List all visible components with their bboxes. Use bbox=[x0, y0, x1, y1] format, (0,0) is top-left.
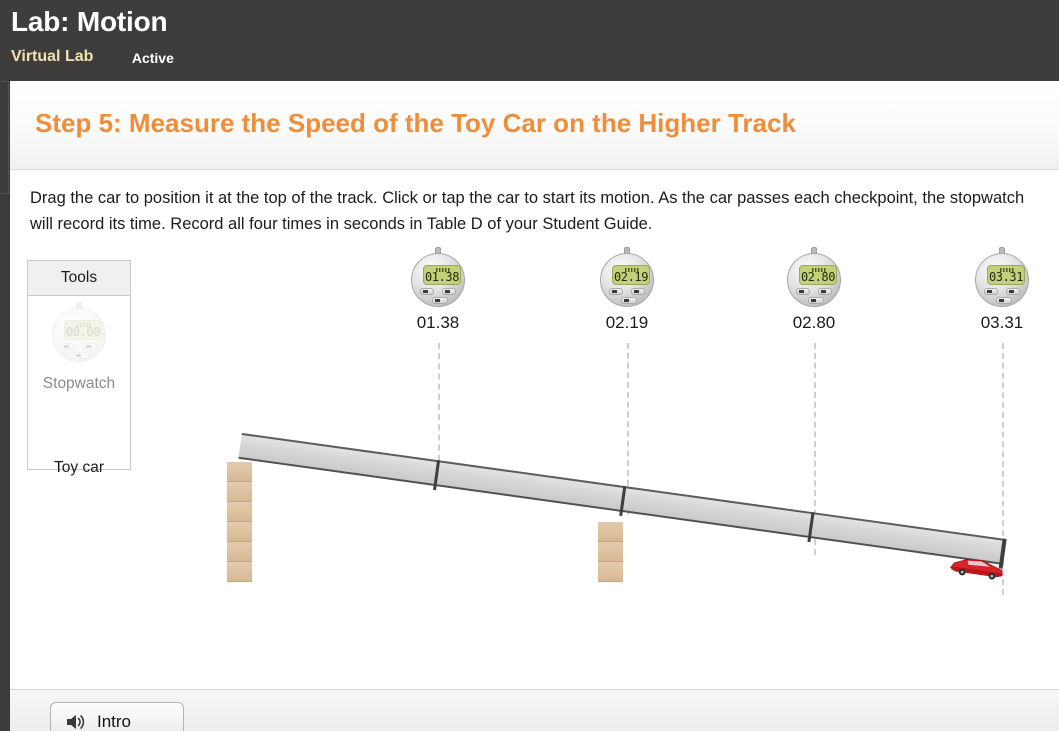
stopwatch-screen: 02.80 bbox=[799, 265, 837, 285]
stopwatch-screen-ticks bbox=[1000, 268, 1015, 272]
stopwatch-body: 03.31 bbox=[975, 253, 1029, 307]
stopwatch-time-value: 03.31 bbox=[989, 270, 1023, 284]
instructions-text: Drag the car to position it at the top o… bbox=[30, 185, 1030, 237]
support-stack-left bbox=[227, 462, 252, 582]
checkpoint-stopwatch-icon: 03.31 bbox=[972, 251, 1032, 309]
stopwatch-screen: 02.19 bbox=[612, 265, 650, 285]
stopwatch-center-button bbox=[808, 297, 824, 304]
left-edge-outline bbox=[1, 81, 9, 194]
step-title: Step 5: Measure the Speed of the Toy Car… bbox=[35, 108, 796, 139]
stopwatch-left-button bbox=[796, 288, 810, 295]
checkpoint-stopwatch-icon: 02.19 bbox=[597, 251, 657, 309]
left-edge-strip bbox=[0, 81, 10, 731]
support-block bbox=[227, 462, 252, 482]
checkpoint-4: 03.3103.31 bbox=[942, 251, 1059, 333]
stopwatch-body: 01.38 bbox=[411, 253, 465, 307]
checkpoint-3: 02.8002.80 bbox=[754, 251, 874, 333]
checkpoint-time-label: 02.80 bbox=[754, 313, 874, 333]
checkpoint-stopwatch-icon: 01.38 bbox=[408, 251, 468, 309]
virtual-lab-app: Lab: Motion Virtual Lab Active Step 5: M… bbox=[0, 0, 1059, 731]
status-badge: Active bbox=[132, 48, 174, 66]
stopwatch-body: 02.80 bbox=[787, 253, 841, 307]
stopwatch-right-dot bbox=[445, 290, 450, 293]
stopwatch-screen: 03.31 bbox=[987, 265, 1025, 285]
checkpoint-dashed-line bbox=[438, 343, 440, 471]
stopwatch-center-dot bbox=[811, 299, 816, 302]
stopwatch-time-value: 02.19 bbox=[614, 270, 648, 284]
checkpoint-time-label: 03.31 bbox=[942, 313, 1059, 333]
checkpoint-1: 01.3801.38 bbox=[378, 251, 498, 333]
stopwatch-right-dot bbox=[1009, 290, 1014, 293]
stopwatch-time-value: 02.80 bbox=[801, 270, 835, 284]
support-block bbox=[227, 502, 252, 522]
stopwatch-right-dot bbox=[821, 290, 826, 293]
support-block bbox=[227, 522, 252, 542]
page-title: Lab: Motion bbox=[11, 6, 167, 38]
step-header: Step 5: Measure the Speed of the Toy Car… bbox=[10, 81, 1059, 170]
support-stack-middle bbox=[598, 522, 623, 582]
stopwatch-time-value: 01.38 bbox=[425, 270, 459, 284]
stopwatch-left-button bbox=[984, 288, 998, 295]
support-block bbox=[227, 562, 252, 582]
stopwatch-body: 02.19 bbox=[600, 253, 654, 307]
stopwatch-left-dot bbox=[987, 290, 992, 293]
checkpoint-time-label: 01.38 bbox=[378, 313, 498, 333]
stopwatch-left-dot bbox=[612, 290, 617, 293]
stopwatch-center-button bbox=[621, 297, 637, 304]
support-block bbox=[598, 542, 623, 562]
stopwatch-right-button bbox=[631, 288, 645, 295]
stopwatch-center-button bbox=[996, 297, 1012, 304]
content-panel: Step 5: Measure the Speed of the Toy Car… bbox=[10, 81, 1059, 689]
support-block bbox=[227, 542, 252, 562]
stopwatch-right-dot bbox=[634, 290, 639, 293]
app-header: Lab: Motion Virtual Lab Active bbox=[0, 0, 1059, 81]
stopwatch-screen-ticks bbox=[812, 268, 827, 272]
intro-button-label: Intro bbox=[97, 712, 131, 731]
stopwatch-center-dot bbox=[435, 299, 440, 302]
stopwatch-screen-ticks bbox=[625, 268, 640, 272]
stopwatch-center-button bbox=[432, 297, 448, 304]
intro-button[interactable]: Intro bbox=[50, 702, 184, 731]
support-block bbox=[598, 562, 623, 582]
stopwatch-left-dot bbox=[423, 290, 428, 293]
stopwatch-right-button bbox=[818, 288, 832, 295]
stopwatch-left-dot bbox=[799, 290, 804, 293]
speaker-icon bbox=[65, 713, 87, 731]
ramp-segment-divider-3 bbox=[807, 512, 814, 542]
virtual-lab-label: Virtual Lab bbox=[11, 48, 93, 66]
stopwatch-screen: 01.38 bbox=[423, 265, 461, 285]
stopwatch-right-button bbox=[442, 288, 456, 295]
ramp-segment-divider-2 bbox=[619, 486, 626, 516]
stopwatch-screen-ticks bbox=[436, 268, 451, 272]
stopwatch-left-button bbox=[609, 288, 623, 295]
support-block bbox=[598, 522, 623, 542]
bottom-toolbar: Intro bbox=[10, 689, 1059, 731]
stopwatch-center-dot bbox=[999, 299, 1004, 302]
ramp-segment-divider-1 bbox=[433, 460, 440, 490]
stopwatch-center-dot bbox=[624, 299, 629, 302]
stopwatch-left-button bbox=[420, 288, 434, 295]
checkpoint-2: 02.1902.19 bbox=[567, 251, 687, 333]
header-subrow: Virtual Lab Active bbox=[11, 48, 174, 66]
checkpoint-time-label: 02.19 bbox=[567, 313, 687, 333]
lab-stage: 01.3801.3802.1902.1902.8002.8003.3103.31 bbox=[10, 251, 1059, 611]
checkpoint-stopwatch-icon: 02.80 bbox=[784, 251, 844, 309]
stopwatch-right-button bbox=[1006, 288, 1020, 295]
support-block bbox=[227, 482, 252, 502]
